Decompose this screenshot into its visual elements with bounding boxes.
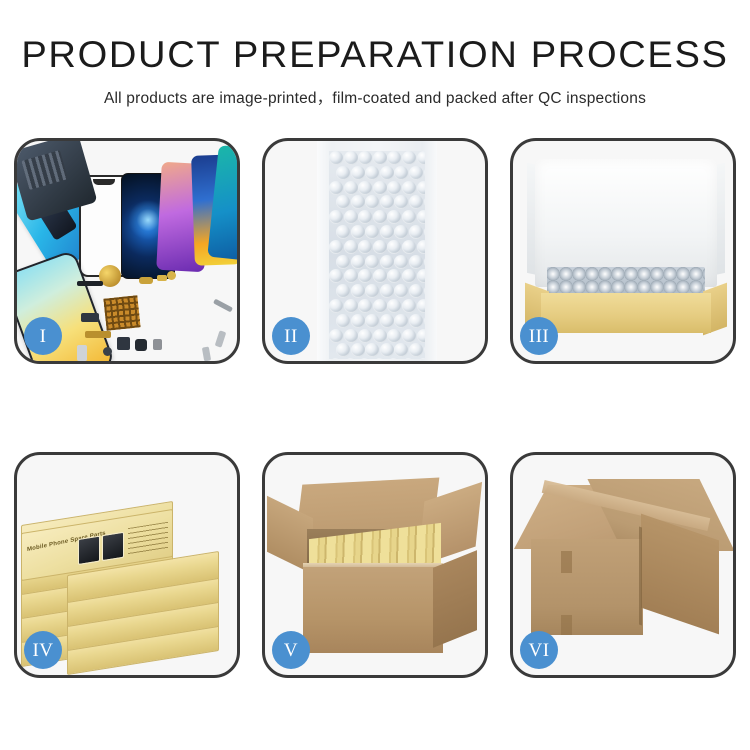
bubble-icon <box>409 225 423 239</box>
bubble-icon <box>373 329 387 343</box>
bubble-icon <box>394 343 408 357</box>
bubble-icon <box>329 210 343 224</box>
bubble-row <box>336 255 425 270</box>
bubble-icon <box>373 151 387 165</box>
bubble-icon <box>358 299 372 313</box>
bubble-icon <box>402 329 416 343</box>
bubble-row <box>329 151 425 166</box>
bubble-icon <box>373 181 387 195</box>
step-panel-3: III <box>510 138 736 364</box>
bubble-icon <box>424 284 425 298</box>
bubble-icon <box>402 358 416 359</box>
step-badge-4: IV <box>24 631 62 669</box>
bubble-icon <box>329 269 343 283</box>
bubble-icon <box>380 284 394 298</box>
bubble-icon <box>358 151 372 165</box>
bubble-icon <box>394 195 408 209</box>
bubble-icon <box>365 195 379 209</box>
bubble-icon <box>417 329 425 343</box>
ic-part-icon <box>135 339 147 351</box>
bubble-icon <box>351 195 365 209</box>
bubble-icon <box>373 299 387 313</box>
bubble-row <box>329 269 425 284</box>
bubble-icon <box>402 210 416 224</box>
bubble-icon <box>387 329 401 343</box>
bubble-icon <box>358 329 372 343</box>
bubble-icon <box>365 225 379 239</box>
sim-tray-icon <box>77 345 87 361</box>
bubble-icon <box>344 210 358 224</box>
bubble-icon <box>402 269 416 283</box>
bubble-icon <box>329 329 343 343</box>
speaker-part-icon <box>103 347 112 356</box>
bubble-row <box>336 284 425 299</box>
bubble-icon <box>365 343 379 357</box>
bubble-icon <box>424 314 425 328</box>
page-title: PRODUCT PREPARATION PROCESS <box>0 0 750 76</box>
bubble-icon <box>373 358 387 359</box>
bubble-icon <box>373 210 387 224</box>
step-panel-4: Mobile Phone Spare Parts Mobile Phone Sp… <box>14 452 240 678</box>
bubble-icon <box>394 225 408 239</box>
box-screen-image <box>78 536 100 565</box>
bubble-row <box>329 210 425 225</box>
bubble-icon <box>351 255 365 269</box>
box-screen-image <box>102 532 124 561</box>
bubble-icon <box>329 240 343 254</box>
bubble-icon <box>380 225 394 239</box>
step-badge-6: VI <box>520 631 558 669</box>
header: PRODUCT PREPARATION PROCESS All products… <box>0 0 750 108</box>
bubble-icon <box>387 210 401 224</box>
bubble-icon <box>336 166 350 180</box>
bubble-icon <box>380 166 394 180</box>
bubble-icon <box>417 299 425 313</box>
bubble-icon <box>373 269 387 283</box>
step-panel-5: V <box>262 452 488 678</box>
bubble-icon <box>394 284 408 298</box>
box-spec-lines <box>128 522 168 556</box>
bubble-row <box>336 314 425 329</box>
bubble-icon <box>387 269 401 283</box>
bubble-icon <box>344 240 358 254</box>
bubble-icon <box>424 225 425 239</box>
bubble-icon <box>394 166 408 180</box>
bubble-icon <box>329 181 343 195</box>
bubble-row <box>336 195 425 210</box>
carton-seam-lower <box>561 615 572 635</box>
bracket-part-icon <box>153 339 162 350</box>
bubble-icon <box>417 358 425 359</box>
bubble-row <box>329 299 425 314</box>
bubble-icon <box>394 314 408 328</box>
bubble-icon <box>373 240 387 254</box>
carton-front-face <box>531 539 643 635</box>
bubble-icon <box>409 255 423 269</box>
bubble-icon <box>344 299 358 313</box>
bubble-icon <box>394 255 408 269</box>
bubble-icon <box>402 151 416 165</box>
bubble-icon <box>417 181 425 195</box>
camera-part-icon <box>81 313 99 322</box>
step-badge-2: II <box>272 317 310 355</box>
bubble-icon <box>365 255 379 269</box>
bubble-icon <box>409 314 423 328</box>
connector-grid-icon <box>103 295 140 330</box>
carton-seam-upper <box>561 551 572 573</box>
bubble-icon <box>409 166 423 180</box>
bubble-icon <box>351 314 365 328</box>
bubble-icon <box>344 329 358 343</box>
bubble-row <box>336 225 425 240</box>
bubble-icon <box>358 358 372 359</box>
bubble-icon <box>409 195 423 209</box>
bubble-wrap-pad <box>329 151 425 359</box>
bubble-icon <box>417 210 425 224</box>
bubble-icon <box>409 343 423 357</box>
bubble-icon <box>351 343 365 357</box>
chip-part-icon <box>117 337 130 350</box>
bubble-icon <box>424 343 425 357</box>
bubble-icon <box>380 314 394 328</box>
bubble-icon <box>336 255 350 269</box>
bubble-icon <box>417 269 425 283</box>
bubble-icon <box>358 181 372 195</box>
bubble-icon <box>409 284 423 298</box>
bubble-icon <box>365 314 379 328</box>
screwdriver-icon <box>215 330 227 347</box>
earpiece-part-icon <box>77 281 103 286</box>
bubble-row <box>329 358 425 359</box>
bubble-icon <box>336 195 350 209</box>
bubble-icon <box>417 240 425 254</box>
bubble-icon <box>336 314 350 328</box>
bubble-icon <box>336 225 350 239</box>
tweezers-icon <box>213 299 233 313</box>
step-panel-2: II <box>262 138 488 364</box>
bubble-icon <box>344 358 358 359</box>
bubble-icon <box>380 195 394 209</box>
bubble-icon <box>351 166 365 180</box>
bubble-icon <box>358 210 372 224</box>
bubble-row <box>329 240 425 255</box>
carton-corner-edge <box>639 526 642 625</box>
product-preparation-infographic: PRODUCT PREPARATION PROCESS All products… <box>0 0 750 750</box>
pry-tool-icon <box>202 346 211 361</box>
bubble-icon <box>329 299 343 313</box>
flex-cable-part-icon <box>139 277 153 284</box>
bubble-icon <box>336 284 350 298</box>
bubble-icon <box>424 255 425 269</box>
box-kraft-base <box>541 293 711 333</box>
step-panel-1: I <box>14 138 240 364</box>
bubble-icon <box>402 299 416 313</box>
bubble-icon <box>417 151 425 165</box>
carton-front-face <box>303 567 443 653</box>
bubble-icon <box>380 343 394 357</box>
bubble-icon <box>365 284 379 298</box>
bubble-icon <box>344 151 358 165</box>
bubble-icon <box>424 195 425 209</box>
bubble-icon <box>351 284 365 298</box>
bubble-icon <box>402 181 416 195</box>
bubble-icon <box>387 240 401 254</box>
button-part-icon <box>157 275 167 281</box>
ribbon-part-icon <box>85 331 111 338</box>
bubble-icon <box>387 181 401 195</box>
bubble-icon <box>358 269 372 283</box>
bubble-icon <box>387 151 401 165</box>
bubble-icon <box>402 240 416 254</box>
bubble-icon <box>344 269 358 283</box>
step-panel-6: VI <box>510 452 736 678</box>
bubble-icon <box>365 166 379 180</box>
bubble-icon <box>358 240 372 254</box>
step-badge-3: III <box>520 317 558 355</box>
bubble-icon <box>387 299 401 313</box>
bubble-icon <box>424 166 425 180</box>
carton-side-face <box>433 550 477 648</box>
page-subtitle: All products are image-printed，film-coat… <box>0 76 750 108</box>
bubble-row <box>329 329 425 344</box>
bubble-row <box>336 166 425 181</box>
bubble-row <box>329 181 425 196</box>
bubble-icon <box>344 181 358 195</box>
bubble-icon <box>351 225 365 239</box>
step-badge-5: V <box>272 631 310 669</box>
bubble-icon <box>329 151 343 165</box>
bubble-icon <box>380 255 394 269</box>
bubble-icon <box>336 343 350 357</box>
bubble-icon <box>329 358 343 359</box>
process-steps-grid: I II III <box>14 138 736 690</box>
bubble-icon <box>387 358 401 359</box>
bubble-row <box>336 343 425 358</box>
step-badge-1: I <box>24 317 62 355</box>
screw-part-icon <box>167 271 176 280</box>
